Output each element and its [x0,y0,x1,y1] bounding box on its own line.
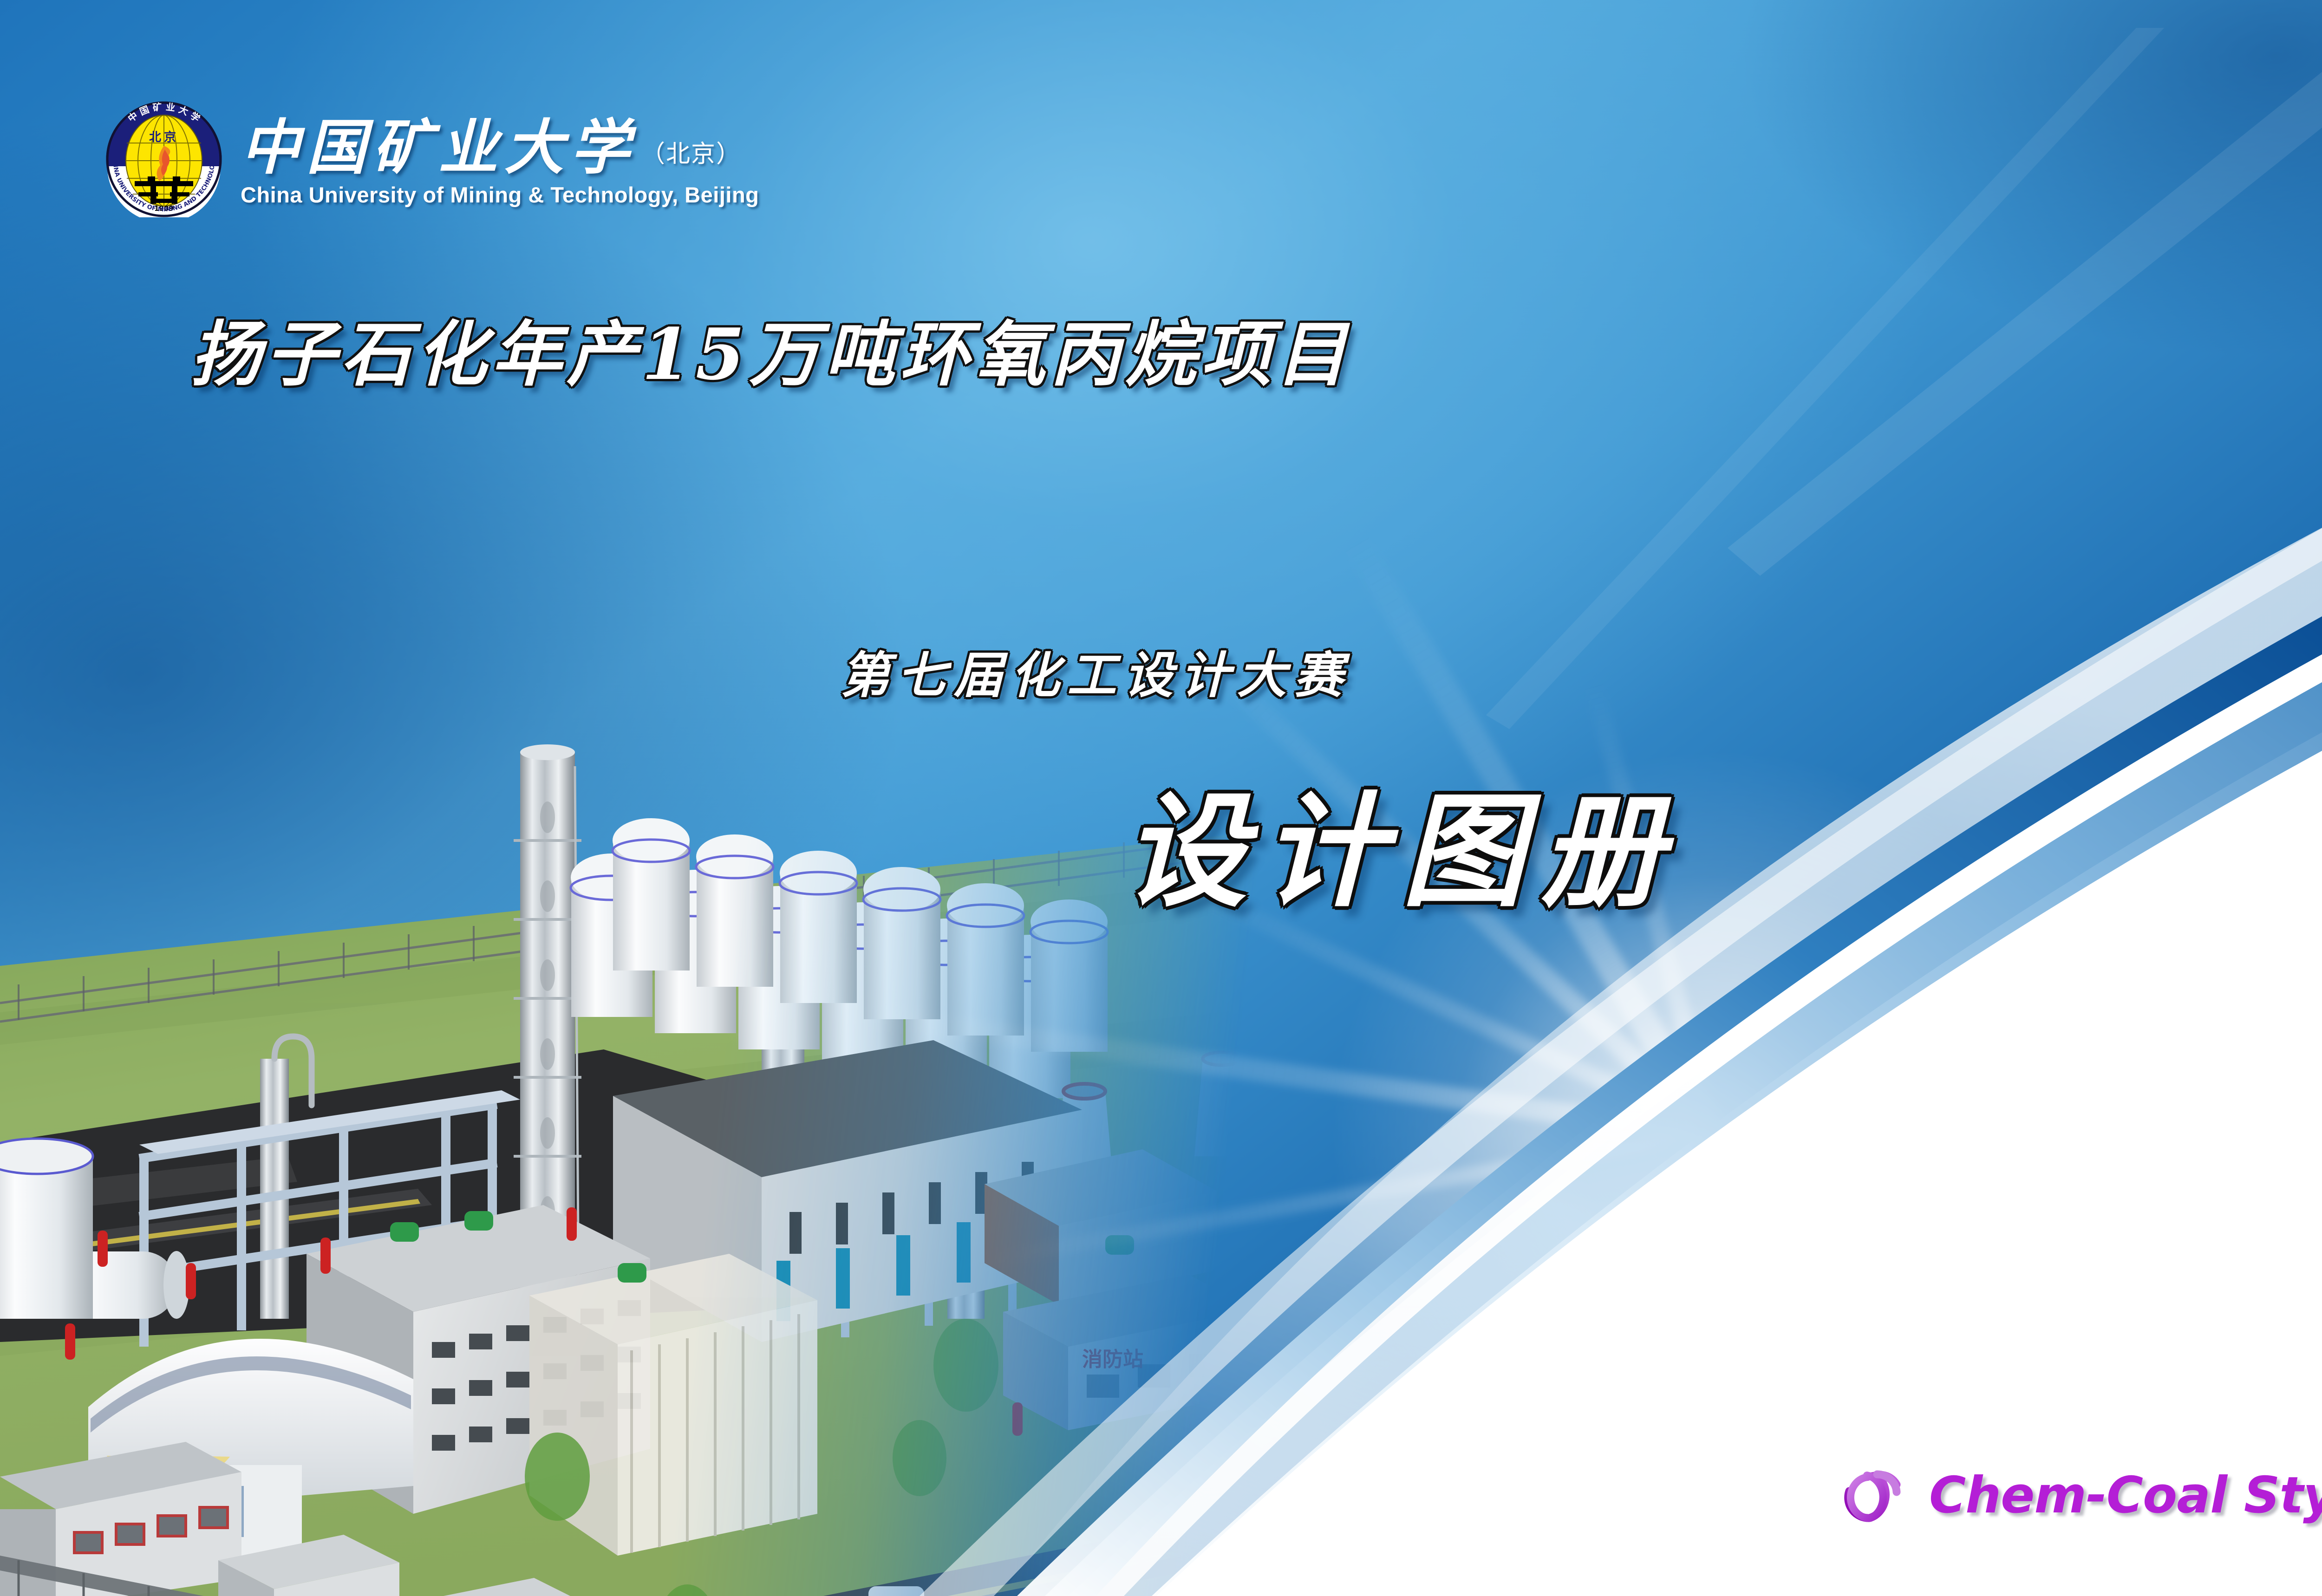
university-city-cn: （北京） [641,134,741,177]
university-name-block: 中国矿业大学 （北京） China University of Mining &… [241,111,759,208]
brand-name: Chem-Coal Style [1929,1466,2322,1524]
brand-footer: Chem-Coal Style [1839,1460,2322,1530]
chem-coal-logo-icon [1839,1460,1913,1530]
project-title: 扬子石化年产15万吨环氧丙烷项目 [190,297,1351,399]
cumtb-seal-icon: 北京 1909 CHINA UNIVERSITY OF MINING AND T… [106,101,222,217]
atlas-title: 设计图册 [1124,752,1679,930]
university-name-en: China University of Mining & Technology,… [241,182,759,208]
university-identity: 北京 1909 CHINA UNIVERSITY OF MINING AND T… [106,101,759,217]
svg-text:北京: 北京 [149,130,179,144]
competition-name: 第七届化工设计大赛 [841,635,1350,707]
cover-page: 消防站 [0,0,2322,1596]
university-name-cn: 中国矿业大学 [241,118,636,177]
